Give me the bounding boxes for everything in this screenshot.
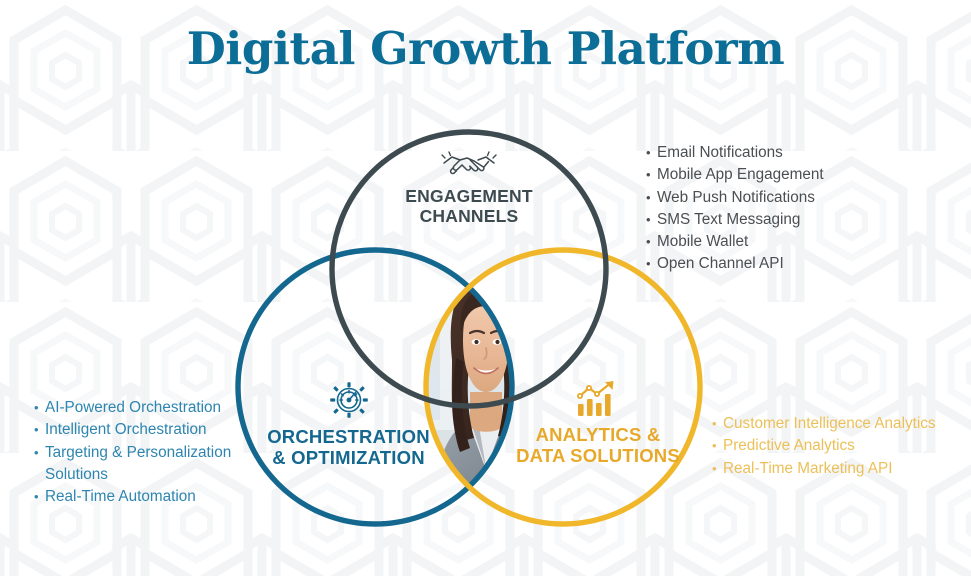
list-item-label: Targeting & Personalization bbox=[45, 444, 231, 461]
list-item-label: Web Push Notifications bbox=[657, 189, 815, 206]
engagement-channels-feature-list: •Email Notifications •Mobile App Engagem… bbox=[646, 142, 824, 276]
bullet-dot-icon: • bbox=[34, 397, 45, 419]
list-item: •Open Channel API bbox=[646, 253, 824, 275]
list-item: •Customer Intelligence Analytics bbox=[712, 413, 936, 435]
list-item: •Real-Time Marketing API bbox=[712, 458, 936, 480]
list-item-label: Predictive Analytics bbox=[723, 437, 855, 454]
list-item-label: Solutions bbox=[45, 466, 108, 483]
venn-label-analytics-line2: DATA SOLUTIONS bbox=[498, 446, 698, 467]
venn-label-orchestration: ORCHESTRATION & OPTIMIZATION bbox=[246, 380, 451, 469]
analytics-data-solutions-feature-list: •Customer Intelligence Analytics •Predic… bbox=[712, 413, 936, 480]
bullet-dot-icon: • bbox=[646, 164, 657, 186]
bullet-dot-icon: • bbox=[34, 419, 45, 441]
venn-label-analytics: ANALYTICS & DATA SOLUTIONS bbox=[498, 380, 698, 467]
list-item: •Intelligent Orchestration bbox=[34, 419, 231, 441]
bullet-dot-icon: • bbox=[646, 209, 657, 231]
list-item: •Mobile App Engagement bbox=[646, 164, 824, 186]
list-item-label: Real-Time Automation bbox=[45, 488, 196, 505]
list-item-continuation: Solutions bbox=[34, 464, 231, 486]
page-title: Digital Growth Platform bbox=[0, 22, 971, 75]
venn-label-engagement: ENGAGEMENT CHANNELS bbox=[369, 150, 569, 227]
list-item-label: Mobile App Engagement bbox=[657, 166, 824, 183]
list-item-label: Email Notifications bbox=[657, 144, 783, 161]
venn-label-engagement-line1: ENGAGEMENT bbox=[369, 187, 569, 207]
bullet-dot-icon: • bbox=[646, 142, 657, 164]
bullet-dot-icon: • bbox=[34, 442, 45, 464]
list-item-label: Open Channel API bbox=[657, 255, 784, 272]
list-item: •Real-Time Automation bbox=[34, 486, 231, 508]
list-item: •AI-Powered Orchestration bbox=[34, 397, 231, 419]
bullet-dot-icon: • bbox=[646, 187, 657, 209]
infographic-canvas: Digital Growth Platform bbox=[0, 0, 971, 576]
list-item: •SMS Text Messaging bbox=[646, 209, 824, 231]
list-item-label: Real-Time Marketing API bbox=[723, 460, 892, 477]
list-item-label: SMS Text Messaging bbox=[657, 211, 800, 228]
bullet-dot-icon: • bbox=[646, 253, 657, 275]
list-item: •Mobile Wallet bbox=[646, 231, 824, 253]
bullet-dot-icon: • bbox=[712, 458, 723, 480]
bullet-dot-icon: • bbox=[34, 486, 45, 508]
bullet-dot-icon: • bbox=[646, 231, 657, 253]
bullet-dot-icon: • bbox=[712, 413, 723, 435]
list-item-label: Customer Intelligence Analytics bbox=[723, 415, 936, 432]
list-item-label: AI-Powered Orchestration bbox=[45, 399, 221, 416]
handshake-icon bbox=[440, 150, 498, 180]
venn-label-orchestration-line2: & OPTIMIZATION bbox=[246, 448, 451, 469]
list-item: •Predictive Analytics bbox=[712, 435, 936, 457]
gear-speedometer-icon bbox=[328, 380, 370, 420]
venn-label-engagement-line2: CHANNELS bbox=[369, 207, 569, 227]
bullet-dot-icon: • bbox=[712, 435, 723, 457]
list-item-label: Intelligent Orchestration bbox=[45, 421, 207, 438]
list-item: •Email Notifications bbox=[646, 142, 824, 164]
bar-chart-growth-icon bbox=[575, 380, 621, 418]
venn-label-orchestration-line1: ORCHESTRATION bbox=[246, 427, 451, 448]
venn-label-analytics-line1: ANALYTICS & bbox=[498, 425, 698, 446]
list-item: •Targeting & Personalization bbox=[34, 442, 231, 464]
list-item-label: Mobile Wallet bbox=[657, 233, 748, 250]
orchestration-optimization-feature-list: •AI-Powered Orchestration •Intelligent O… bbox=[34, 397, 231, 508]
list-item: •Web Push Notifications bbox=[646, 187, 824, 209]
